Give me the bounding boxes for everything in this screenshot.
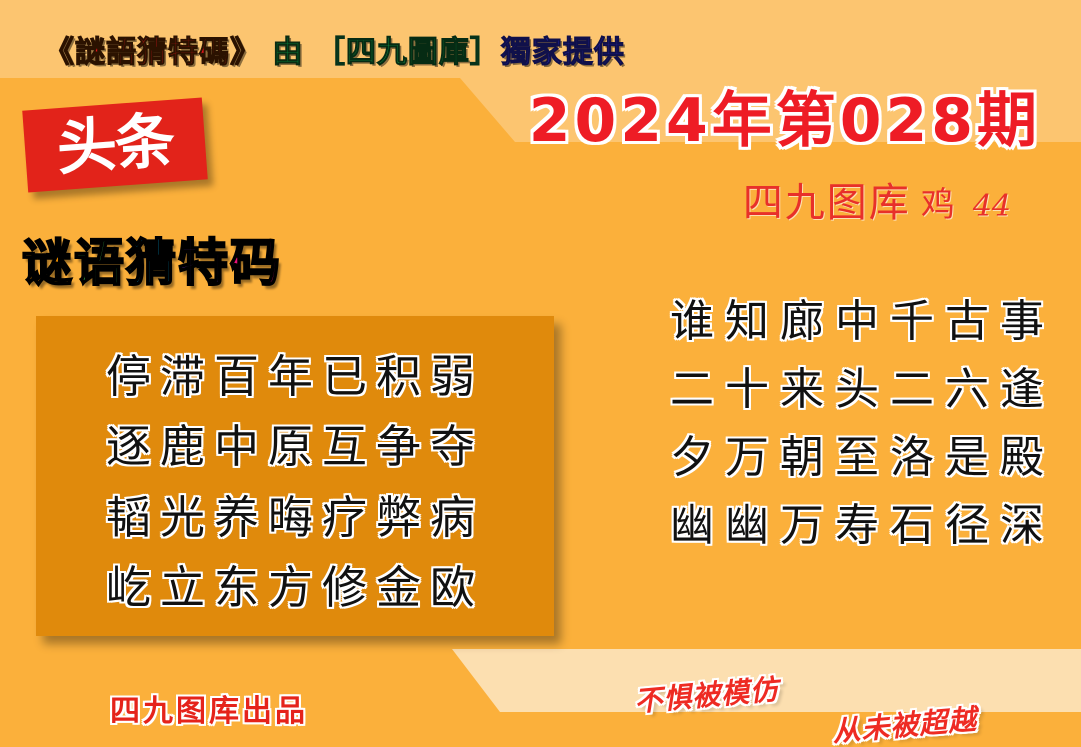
poster-canvas: 《謎語猜特碼》 由 ［四九圖庫］獨家提供 头条 谜语猜特码 停滞百年已积弱 逐鹿…: [0, 0, 1081, 747]
header-seg-6: ］: [470, 27, 501, 71]
headline-badge-label: 头条: [56, 111, 174, 179]
header-seg-5: 四九圖庫: [346, 27, 470, 71]
header-ribbon: 《謎語猜特碼》 由 ［四九圖庫］獨家提供: [44, 27, 625, 71]
header-seg-1: 謎語猜特碼: [75, 27, 230, 71]
issue-title: 2024年第028期: [529, 72, 1041, 159]
brand-row: 四九图库 鸡 44: [743, 170, 1011, 228]
brand-number: 44: [973, 189, 1011, 224]
header-seg-3: 由: [272, 27, 303, 71]
footer-credit: 四九图库出品: [110, 686, 308, 730]
riddle-line: 逐鹿中原互争夺: [52, 410, 538, 475]
brand-zodiac: 鸡: [921, 177, 955, 226]
title-char-2: 猜: [126, 238, 178, 288]
riddle-line: 停滞百年已积弱: [52, 340, 538, 405]
title-char-3: 特: [178, 238, 230, 288]
poem-block: 谁知廊中千古事 二十来头二六逢 夕万朝至洛是殿 幽幽万寿石径深: [670, 288, 1055, 560]
riddle-box: 停滞百年已积弱 逐鹿中原互争夺 韬光养晦疗弊病 屹立东方修金欧: [36, 316, 554, 636]
header-seg-0: 《: [44, 27, 75, 71]
header-seg-4: ［: [315, 27, 346, 71]
title-char-0: 谜: [22, 238, 74, 288]
title-char-1: 语: [74, 238, 126, 288]
title-char-4: 码: [230, 238, 282, 288]
poem-line: 二十来头二六逢: [670, 356, 1055, 424]
poster-title: 谜语猜特码: [22, 238, 282, 288]
brand-name: 四九图库: [743, 170, 911, 228]
poem-line: 幽幽万寿石径深: [670, 492, 1055, 560]
poem-line: 夕万朝至洛是殿: [670, 424, 1055, 492]
header-seg-2: 》: [230, 27, 261, 71]
header-seg-7: 獨家提供: [501, 27, 625, 71]
headline-badge: 头条: [22, 98, 208, 193]
riddle-line: 屹立东方修金欧: [52, 551, 538, 616]
riddle-line: 韬光养晦疗弊病: [52, 481, 538, 546]
poem-line: 谁知廊中千古事: [670, 288, 1055, 356]
